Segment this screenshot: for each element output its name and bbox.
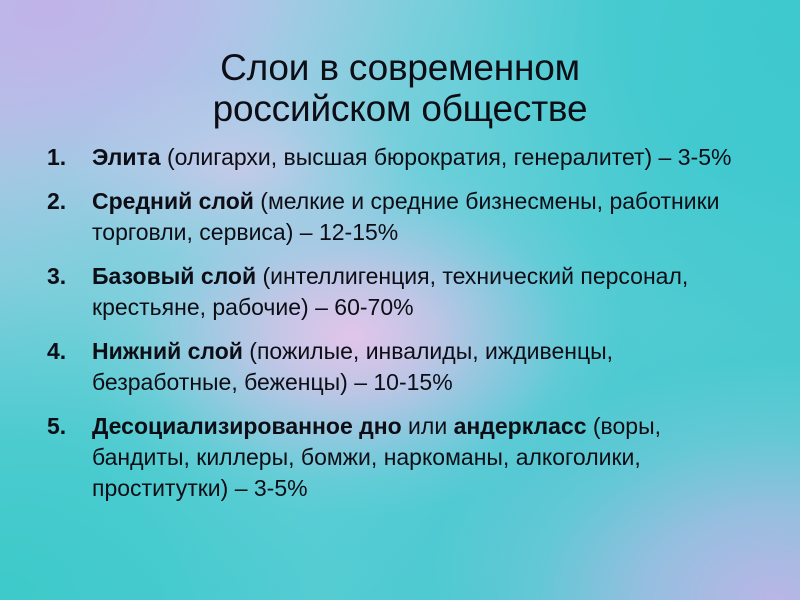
list-item-text-4: Нижний слой (пожилые, инвалиды, иждивенц… [92,336,765,398]
list-item-number-5: 5. [40,411,92,442]
list-item-1: 1. Элита (олигархи, высшая бюрократия, г… [40,142,765,173]
list-item-2: 2. Средний слой (мелкие и средние бизнес… [40,186,765,248]
list-item-text-3: Базовый слой (интеллигенция, технический… [92,261,765,323]
slide-content: Слои в современном российском обществе 1… [0,0,800,600]
list-item-4: 4. Нижний слой (пожилые, инвалиды, иждив… [40,336,765,398]
list-item-number-1: 1. [40,142,92,173]
list-item-5: 5. Десоциализированное дно или андерклас… [40,411,765,504]
list-item-term-5: Десоциализированное дно [92,413,402,439]
list-item-text-5: Десоциализированное дно или андеркласс (… [92,411,765,504]
list-item-conjunction-5: или [402,413,454,439]
social-strata-list: 1. Элита (олигархи, высшая бюрократия, г… [40,142,765,504]
slide-title-line-1: Слои в современном [0,47,800,88]
presentation-slide: Слои в современном российском обществе 1… [0,0,800,600]
list-item-term-3: Базовый слой [92,263,256,289]
list-item-text-2: Средний слой (мелкие и средние бизнесмен… [92,186,765,248]
list-item-number-3: 3. [40,261,92,292]
list-item-detail-1: (олигархи, высшая бюрократия, генералите… [161,144,732,170]
list-item-term2-5: андеркласс [454,413,587,439]
list-item-term-4: Нижний слой [92,338,243,364]
slide-title: Слои в современном российском обществе [0,47,800,130]
list-item-3: 3. Базовый слой (интеллигенция, техничес… [40,261,765,323]
list-item-number-4: 4. [40,336,92,367]
list-item-term-2: Средний слой [92,188,254,214]
list-item-term-1: Элита [92,144,161,170]
list-item-number-2: 2. [40,186,92,217]
slide-title-line-2: российском обществе [0,88,800,129]
list-item-text-1: Элита (олигархи, высшая бюрократия, гене… [92,142,765,173]
